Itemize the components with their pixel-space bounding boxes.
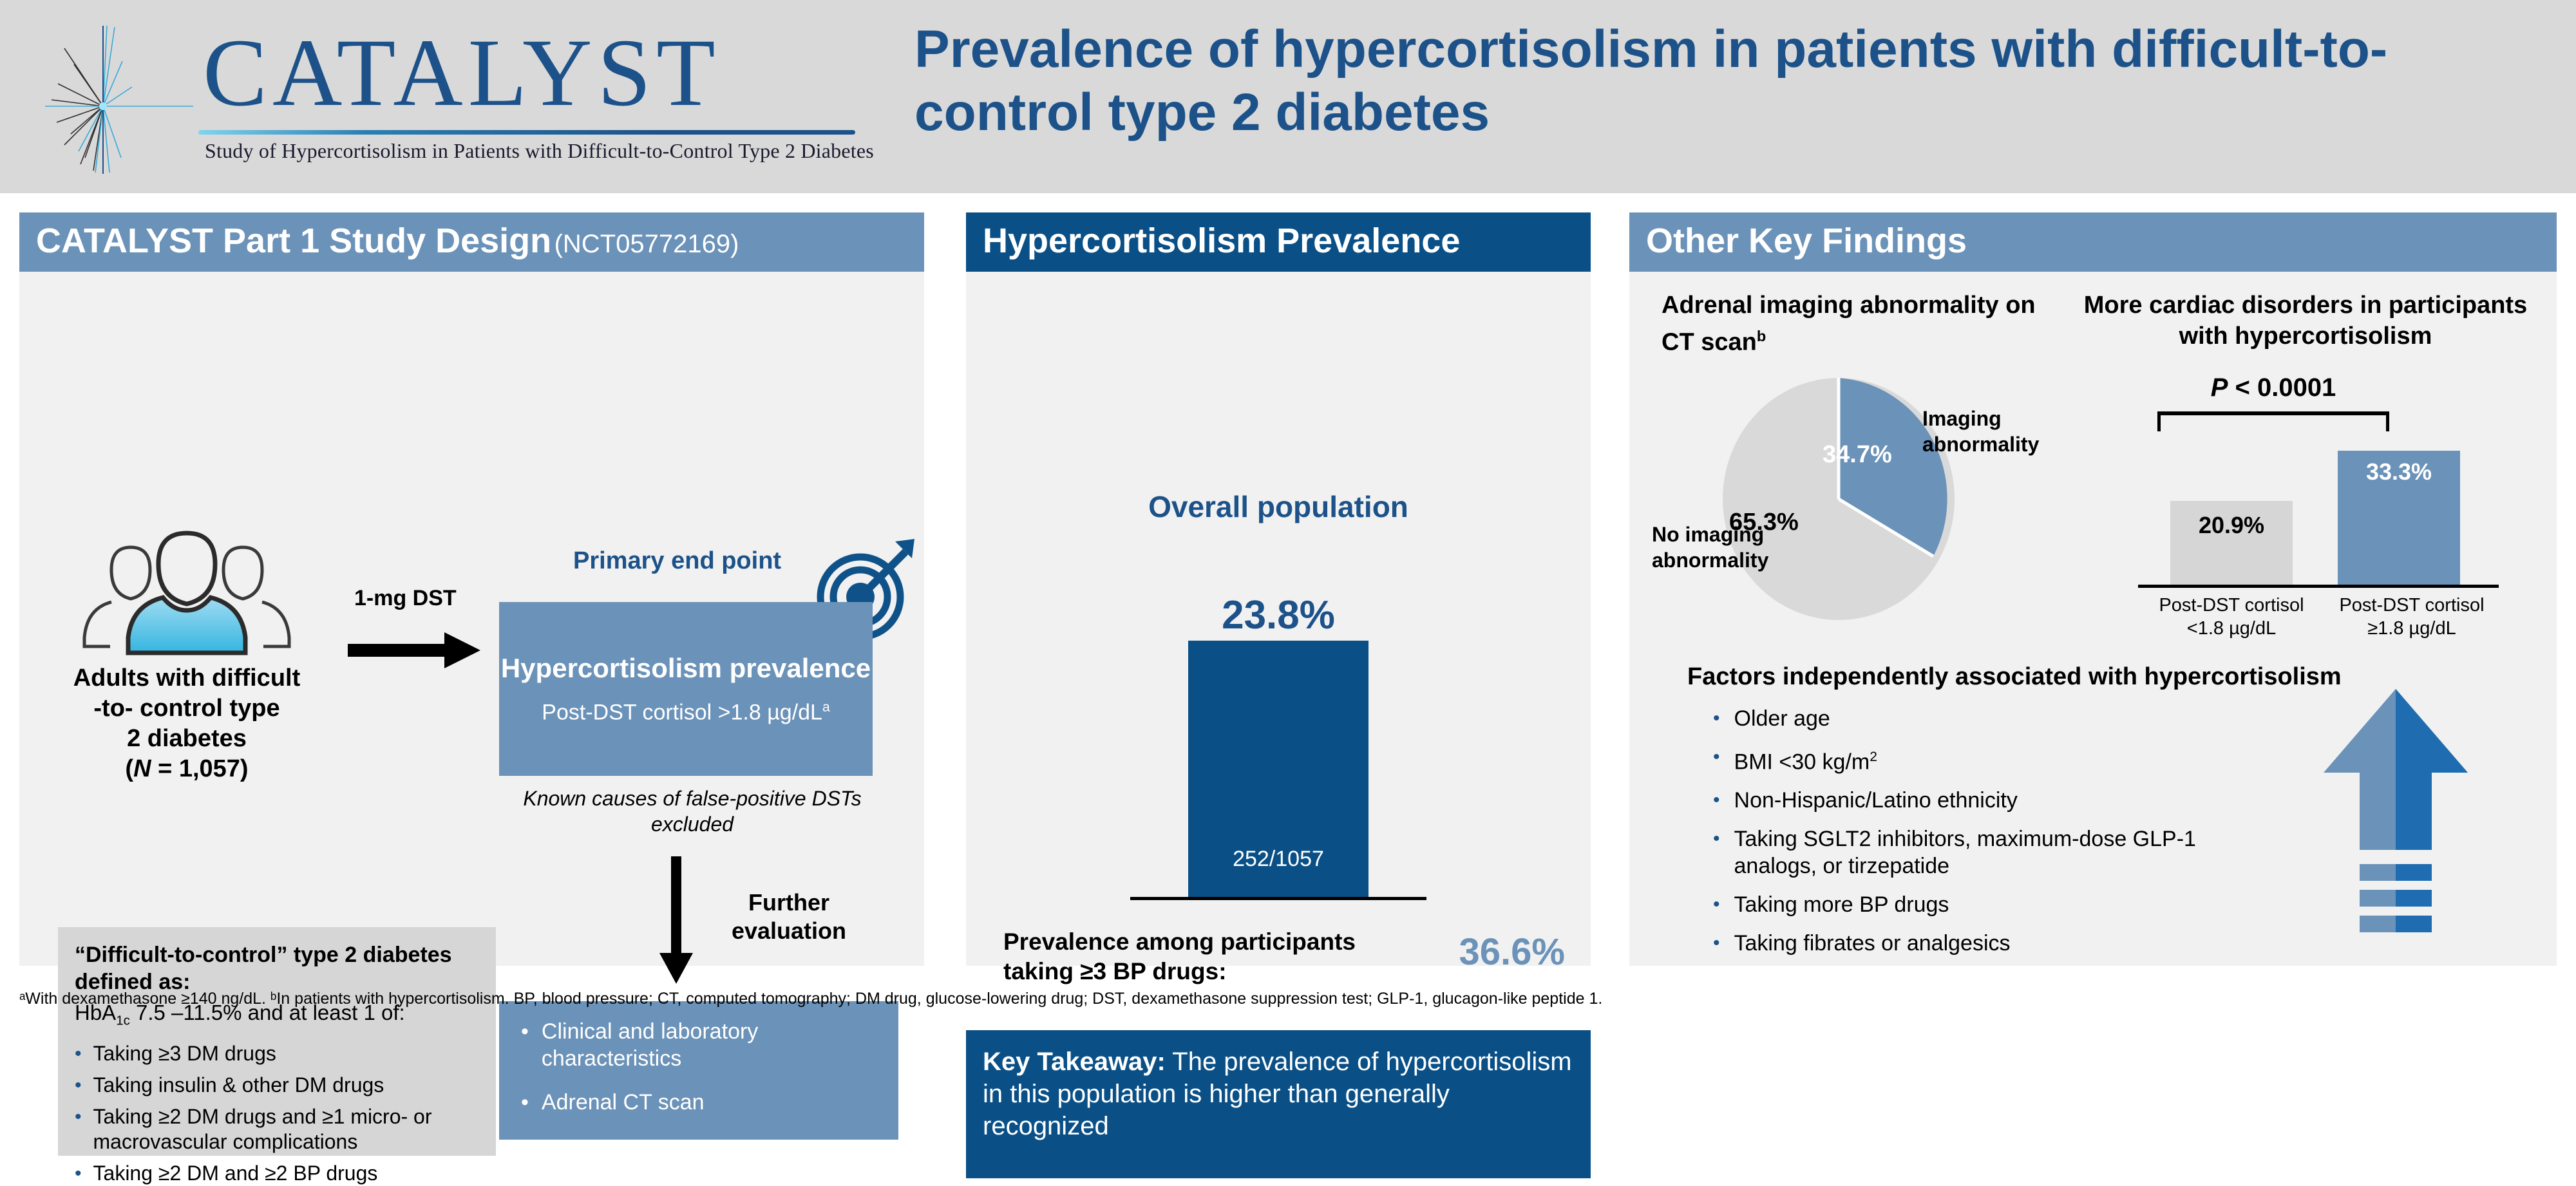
cardiac-bar-xlabel-1: Post-DST cortisol <1.8 µg/dL (2138, 594, 2325, 640)
panel2-title: Hypercortisolism Prevalence (983, 221, 1460, 260)
panel1-header: CATALYST Part 1 Study Design (NCT0577216… (19, 212, 924, 272)
definition-heading: “Difficult-to-control” type 2 diabetes d… (75, 941, 482, 995)
key-takeaway-label: Key Takeaway: (983, 1048, 1166, 1076)
list-item: •Adrenal CT scan (521, 1089, 885, 1116)
bullet-icon: • (1713, 705, 1720, 732)
list-item: •BMI <30 kg/m2 (1713, 744, 2267, 775)
paren-open: ( (125, 755, 133, 782)
significance-bracket-icon (2157, 411, 2389, 433)
n-italic: N (133, 755, 151, 782)
bullet-icon: • (1713, 891, 1720, 918)
overall-prevalence-fraction: 252/1057 (1188, 847, 1368, 872)
bullet-icon: • (521, 1018, 529, 1072)
panel-other-findings: Other Key Findings Adrenal imaging abnor… (1629, 212, 2557, 966)
eval-item-label: Clinical and laboratory characteristics (542, 1018, 885, 1072)
page-header: CATALYST Study of Hypercortisolism in Pa… (0, 0, 2576, 193)
bullet-icon: • (1713, 744, 1720, 775)
factor-text: BMI <30 kg/m (1734, 749, 1870, 774)
bar-chart-axis (1130, 897, 1426, 900)
starburst-icon (45, 26, 193, 174)
endpoint-box-subtitle: Post-DST cortisol >1.8 µg/dLa (499, 695, 873, 725)
xlabel-line1: Post-DST cortisol (2138, 594, 2325, 617)
definition-item-label: Taking insulin & other DM drugs (93, 1073, 384, 1098)
xlabel-line2: <1.8 µg/dL (2138, 617, 2325, 640)
list-item: •Taking ≥2 DM and ≥2 BP drugs (75, 1161, 482, 1186)
definition-item-label: Taking ≥2 DM drugs and ≥1 micro- or macr… (93, 1104, 482, 1154)
hba1c-subscript: 1c (116, 1013, 130, 1028)
further-evaluation-box: •Clinical and laboratory characteristics… (499, 1001, 898, 1140)
endpoint-box-title: Hypercortisolism prevalence (499, 652, 873, 684)
panel3-title: Other Key Findings (1646, 221, 1967, 260)
list-item: •Clinical and laboratory characteristics (521, 1018, 885, 1072)
primary-endpoint-label: Primary end point (573, 547, 781, 575)
known-causes-note: Known causes of false-positive DSTs excl… (499, 786, 885, 837)
bullet-icon: • (521, 1089, 529, 1116)
overall-prevalence-value: 23.8% (966, 592, 1591, 638)
list-item: •Taking fibrates or analgesics (1713, 930, 2267, 957)
overall-population-label: Overall population (966, 489, 1591, 524)
upward-arrow-icon (2299, 689, 2492, 946)
xlabel-line2: ≥1.8 µg/dL (2318, 617, 2505, 640)
panel-study-design: CATALYST Part 1 Study Design (NCT0577216… (19, 212, 924, 966)
list-item: •Taking ≥3 DM drugs (75, 1041, 482, 1066)
factors-heading: Factors independently associated with hy… (1687, 663, 2342, 691)
cardiac-bar-heading: More cardiac disorders in participants w… (2067, 290, 2544, 352)
bullet-icon: • (75, 1073, 82, 1098)
p-value-text: < 0.0001 (2228, 373, 2336, 402)
endpoint-criterion: Post-DST cortisol >1.8 µg/dL (542, 701, 822, 725)
page-title: Prevalence of hypercortisolism in patien… (914, 18, 2537, 144)
pie-chart-heading: Adrenal imaging abnormality on CT scanb (1662, 290, 2054, 358)
superscript-2: 2 (1870, 749, 1877, 764)
population-line-4: (N = 1,057) (39, 754, 335, 784)
definition-item-label: Taking ≥3 DM drugs (93, 1041, 276, 1066)
population-label: Adults with difficult -to- control type … (39, 663, 335, 784)
population-line-2: -to- control type (39, 693, 335, 724)
bp-prevalence-label: Prevalence among participants taking ≥3 … (1003, 927, 1364, 986)
eval-item-label: Adrenal CT scan (542, 1089, 705, 1116)
intervention-label: 1-mg DST (354, 586, 457, 611)
bullet-icon: • (1713, 825, 1720, 880)
panel1-subtitle: (NCT05772169) (554, 230, 739, 258)
bp-prevalence-value: 36.6% (1378, 930, 1565, 974)
p-symbol: P (2211, 373, 2228, 402)
arrow-down-icon (657, 856, 696, 985)
list-item: •Taking more BP drugs (1713, 891, 2267, 918)
pie-label-imaging-abnormality: Imaging abnormality (1922, 406, 2096, 457)
cardiac-bar-xlabel-2: Post-DST cortisol ≥1.8 µg/dL (2318, 594, 2505, 640)
factors-list: •Older age •BMI <30 kg/m2 •Non-Hispanic/… (1713, 705, 2267, 968)
panel2-header: Hypercortisolism Prevalence (966, 212, 1591, 272)
p-value-annotation: P < 0.0001 (2138, 373, 2409, 402)
further-evaluation-label: Further evaluation (712, 889, 866, 945)
factor-label: Non-Hispanic/Latino ethnicity (1734, 787, 2018, 814)
list-item: •Taking insulin & other DM drugs (75, 1073, 482, 1098)
xlabel-line1: Post-DST cortisol (2318, 594, 2505, 617)
bullet-icon: • (75, 1041, 82, 1066)
factor-label: Taking fibrates or analgesics (1734, 930, 2011, 957)
logo-wordmark: CATALYST (203, 24, 721, 121)
pie-label-no-imaging-abnormality: No imaging abnormality (1652, 522, 1794, 573)
list-item: •Non-Hispanic/Latino ethnicity (1713, 787, 2267, 814)
panel-prevalence: Hypercortisolism Prevalence Overall popu… (966, 212, 1591, 966)
key-takeaway-box: Key Takeaway: The prevalence of hypercor… (966, 1030, 1591, 1178)
pie-slice-value-imaging: 34.7% (1823, 441, 1892, 469)
list-item: •Taking SGLT2 inhibitors, maximum-dose G… (1713, 825, 2267, 880)
factor-label: Older age (1734, 705, 1830, 732)
catalyst-logo: CATALYST Study of Hypercortisolism in Pa… (39, 13, 869, 180)
factor-label: Taking more BP drugs (1734, 891, 1949, 918)
factor-label: BMI <30 kg/m2 (1734, 744, 1877, 775)
list-item: •Older age (1713, 705, 2267, 732)
panel3-header: Other Key Findings (1629, 212, 2557, 272)
footnote-text: ᵃWith dexamethasone ≥140 ng/dL. ᵇIn pati… (19, 988, 2531, 1009)
people-group-icon (80, 522, 293, 657)
cardiac-bar-low-value: 20.9% (2170, 512, 2293, 539)
panel1-title: CATALYST Part 1 Study Design (36, 221, 551, 260)
list-item: •Taking ≥2 DM drugs and ≥1 micro- or mac… (75, 1104, 482, 1154)
definition-item-label: Taking ≥2 DM and ≥2 BP drugs (93, 1161, 378, 1186)
arrow-right-icon (348, 631, 483, 670)
logo-divider (198, 130, 855, 135)
factor-label: Taking SGLT2 inhibitors, maximum-dose GL… (1734, 825, 2267, 880)
bullet-icon: • (1713, 930, 1720, 957)
logo-subtitle: Study of Hypercortisolism in Patients wi… (205, 139, 874, 163)
bullet-icon: • (75, 1104, 82, 1154)
n-value: = 1,057) (151, 755, 249, 782)
population-line-1: Adults with difficult (39, 663, 335, 693)
definition-box: “Difficult-to-control” type 2 diabetes d… (58, 927, 496, 1156)
footnote-marker-b: b (1757, 328, 1766, 344)
cardiac-bar-axis (2138, 585, 2499, 588)
pie-heading-text: Adrenal imaging abnormality on CT scan (1662, 292, 2036, 356)
bullet-icon: • (75, 1161, 82, 1186)
cardiac-bar-high-value: 33.3% (2338, 458, 2460, 485)
primary-endpoint-box: Hypercortisolism prevalence Post-DST cor… (499, 602, 873, 776)
population-line-3: 2 diabetes (39, 724, 335, 754)
footnote-marker-a: a (822, 700, 830, 715)
bullet-icon: • (1713, 787, 1720, 814)
